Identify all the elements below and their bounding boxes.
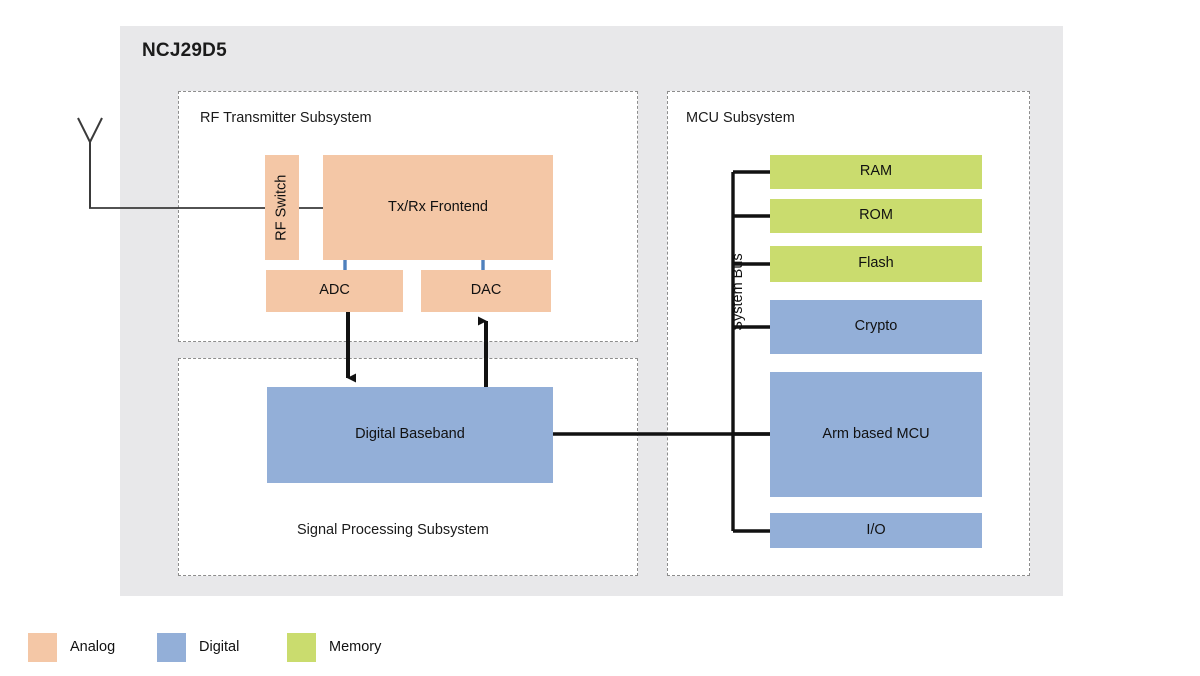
legend-label-memory: Memory: [329, 639, 381, 655]
block-io[interactable]: I/O: [770, 513, 982, 548]
block-txrx-frontend-label: Tx/Rx Frontend: [388, 199, 488, 216]
antenna-icon: [78, 118, 102, 208]
block-dac-label: DAC: [471, 282, 502, 299]
block-rf-switch-label: RF Switch: [273, 174, 290, 240]
legend-label-analog: Analog: [70, 639, 115, 655]
block-arm-based-mcu[interactable]: Arm based MCU: [770, 372, 982, 497]
block-io-label: I/O: [866, 522, 885, 539]
block-rf-switch[interactable]: RF Switch: [265, 155, 299, 260]
legend-label-digital: Digital: [199, 639, 239, 655]
block-flash[interactable]: Flash: [770, 246, 982, 282]
block-flash-label: Flash: [858, 255, 893, 272]
block-ram[interactable]: RAM: [770, 155, 982, 189]
connector-layer: [0, 0, 1200, 676]
block-crypto-label: Crypto: [855, 318, 898, 335]
block-digital-baseband[interactable]: Digital Baseband: [267, 387, 553, 483]
block-adc[interactable]: ADC: [266, 270, 403, 312]
legend-swatch-memory: [287, 633, 316, 662]
block-crypto[interactable]: Crypto: [770, 300, 982, 354]
block-rom-label: ROM: [859, 207, 893, 224]
block-arm-based-mcu-label: Arm based MCU: [822, 426, 929, 443]
legend-swatch-digital: [157, 633, 186, 662]
legend-swatch-analog: [28, 633, 57, 662]
block-dac[interactable]: DAC: [421, 270, 551, 312]
block-diagram-canvas: NCJ29D5 RF Transmitter Subsystem Signal …: [0, 0, 1200, 676]
block-digital-baseband-label: Digital Baseband: [355, 426, 465, 443]
block-txrx-frontend[interactable]: Tx/Rx Frontend: [323, 155, 553, 260]
system-bus-label: System Bus: [730, 237, 746, 347]
block-ram-label: RAM: [860, 163, 892, 180]
block-adc-label: ADC: [319, 282, 350, 299]
block-rom[interactable]: ROM: [770, 199, 982, 233]
